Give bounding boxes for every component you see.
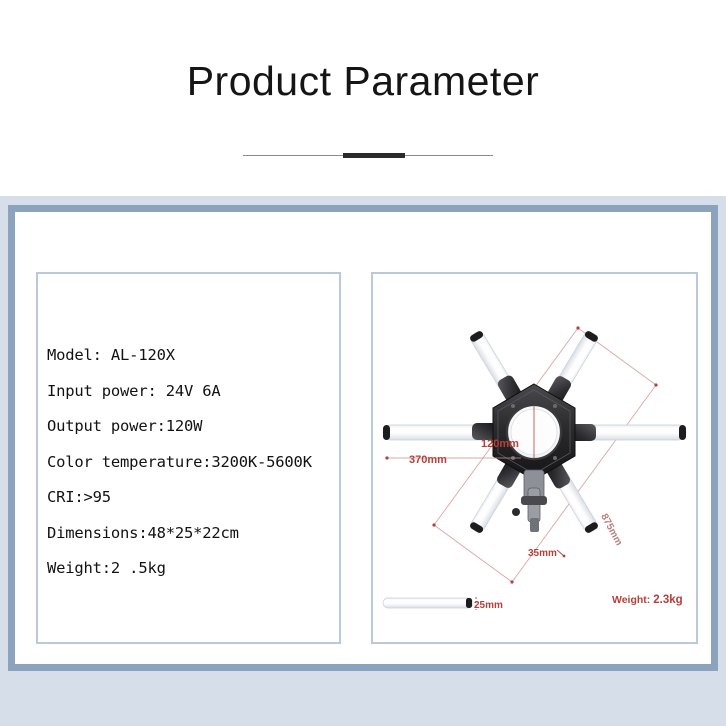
- spec-line-input-power: Input power: 24V 6A: [47, 384, 347, 400]
- label-weight-value: 2.3kg: [653, 594, 682, 606]
- label-arm-length: 370mm: [409, 454, 447, 466]
- divider-line-icon: [243, 155, 493, 157]
- label-tube-diameter-small: 25mm: [474, 600, 503, 611]
- mounting-bracket: [512, 470, 547, 532]
- spec-line-weight: Weight:2 .5kg: [47, 561, 347, 577]
- tube-diameter-marker: [557, 550, 565, 557]
- divider-accent-bar: [343, 153, 405, 158]
- label-weight: Weight: 2.3kg: [612, 594, 683, 606]
- product-diagram: 120mm 370mm 35mm 25mm 875mm Weight: 2.3k…: [371, 272, 698, 644]
- spec-line-output-power: Output power:120W: [47, 419, 347, 435]
- spec-line-model: Model: AL-120X: [47, 348, 347, 364]
- spec-list: Model: AL-120X Input power: 24V 6A Outpu…: [47, 348, 347, 597]
- page-title: Product Parameter: [0, 58, 726, 105]
- spec-line-cri: CRI:>95: [47, 490, 347, 506]
- spec-line-color-temperature: Color temperature:3200K-5600K: [47, 455, 347, 471]
- product-parameter-page: Product Parameter Model: AL-120X Input p…: [0, 0, 726, 726]
- label-tube-diameter-large: 35mm: [528, 548, 557, 559]
- label-weight-key: Weight:: [612, 594, 650, 606]
- label-ring-diameter: 120mm: [481, 438, 519, 450]
- standalone-tube: [383, 597, 476, 610]
- spec-line-dimensions: Dimensions:48*25*22cm: [47, 526, 347, 542]
- header: Product Parameter: [0, 0, 726, 196]
